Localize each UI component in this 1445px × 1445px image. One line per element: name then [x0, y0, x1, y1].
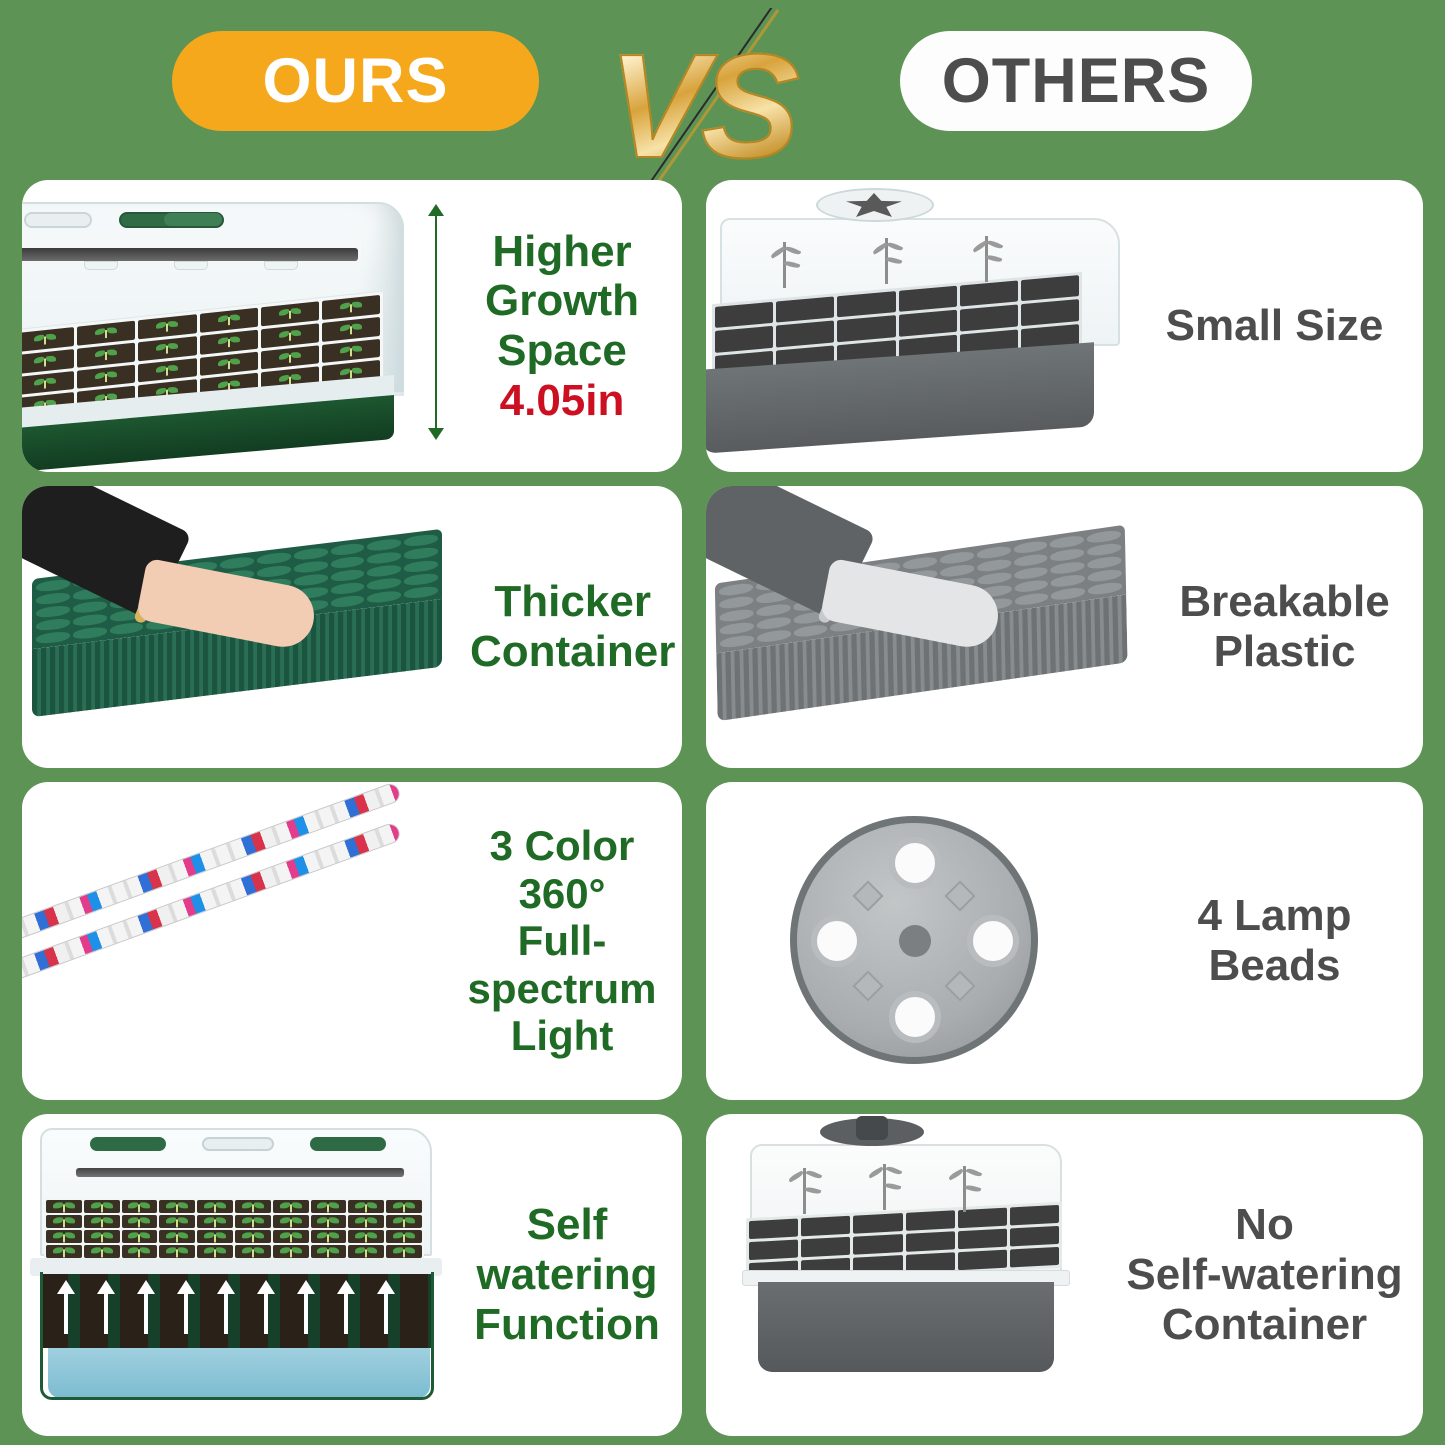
caption-line-3: Container — [1114, 1300, 1415, 1350]
others-durability-image — [706, 486, 1146, 768]
ours-watering-image — [22, 1114, 452, 1436]
card-ours-durability: Thicker Container — [22, 486, 682, 768]
caption-line-3: Space 4.05in — [450, 326, 674, 425]
led-light-bar — [22, 782, 402, 947]
white-cell-tray — [44, 1198, 424, 1260]
ours-watering-caption: Self watering Function — [452, 1200, 682, 1349]
caption-line-1: Thicker — [470, 577, 675, 627]
others-watering-image — [706, 1114, 1106, 1436]
caption-line-1: Higher — [450, 227, 674, 277]
ours-size-caption: Higher Growth Space 4.05in — [422, 227, 682, 426]
gray-sprout — [772, 242, 798, 288]
caption-line-1: Self — [460, 1200, 674, 1250]
others-watering-caption: No Self-watering Container — [1106, 1200, 1423, 1349]
caption-line-2: Beads — [1134, 941, 1415, 991]
height-measure-arrow-icon — [426, 204, 446, 440]
caption-line-1: 4 Lamp — [1134, 891, 1415, 941]
caption-line-2: watering — [460, 1250, 674, 1300]
others-durability-caption: Breakable Plastic — [1146, 577, 1423, 676]
caption-line-1: Small Size — [1134, 301, 1415, 351]
caption-line-2: Full-spectrum — [450, 917, 674, 1012]
comparison-grid: Higher Growth Space 4.05in — [0, 172, 1445, 1445]
gray-sprout — [792, 1168, 818, 1214]
card-ours-watering: Self watering Function — [22, 1114, 682, 1436]
diamond-marker-icon — [852, 970, 883, 1001]
caption-line-1: 3 Color 360° — [450, 822, 674, 917]
lamp-bead — [889, 837, 941, 889]
others-lighting-image — [706, 782, 1126, 1100]
gray-base-tray — [758, 1282, 1054, 1372]
caption-line-3-prefix: Space — [497, 326, 627, 375]
others-size-image — [706, 180, 1126, 472]
center-hub — [899, 925, 931, 957]
diamond-marker-icon — [852, 880, 883, 911]
others-size-caption: Small Size — [1126, 301, 1423, 351]
caption-line-2: Self-watering — [1114, 1250, 1415, 1300]
ours-durability-caption: Thicker Container — [462, 577, 682, 676]
others-lighting-caption: 4 Lamp Beads — [1126, 891, 1423, 990]
lamp-bead — [811, 915, 863, 967]
comparison-infographic: OURS VS OTHERS — [0, 0, 1445, 1445]
card-others-watering: No Self-watering Container — [706, 1114, 1423, 1436]
others-badge: OTHERS — [900, 31, 1252, 131]
outer-tray-outline — [40, 1272, 434, 1400]
vent-knob — [856, 1116, 888, 1140]
header-banner: OURS VS OTHERS — [0, 0, 1445, 172]
ours-badge: OURS — [172, 31, 539, 131]
ours-durability-image — [22, 486, 462, 768]
caption-line-1: No — [1114, 1200, 1415, 1250]
diamond-marker-icon — [944, 880, 975, 911]
card-others-lighting: 4 Lamp Beads — [706, 782, 1423, 1100]
lamp-disc — [790, 816, 1038, 1064]
caption-line-3: Light — [450, 1012, 674, 1059]
vs-label: VS — [592, 22, 810, 192]
diamond-marker-icon — [944, 970, 975, 1001]
gray-sprout — [974, 236, 1000, 282]
ours-lighting-caption: 3 Color 360° Full-spectrum Light — [442, 822, 682, 1059]
gray-sprout — [872, 1164, 898, 1210]
gray-sprout — [952, 1166, 978, 1212]
gray-sprout — [874, 238, 900, 284]
card-ours-size: Higher Growth Space 4.05in — [22, 180, 682, 472]
lamp-bead — [967, 915, 1019, 967]
card-ours-lighting: 3 Color 360° Full-spectrum Light — [22, 782, 682, 1100]
lamp-bead — [889, 991, 941, 1043]
ours-size-image — [22, 180, 422, 472]
caption-line-1: Breakable — [1154, 577, 1415, 627]
ours-lighting-image — [22, 782, 442, 1100]
caption-line-2: Plastic — [1154, 627, 1415, 677]
caption-line-2: Growth — [450, 276, 674, 326]
caption-line-2: Container — [470, 627, 675, 677]
card-others-durability: Breakable Plastic — [706, 486, 1423, 768]
caption-line-3: Function — [460, 1300, 674, 1350]
card-others-size: Small Size — [706, 180, 1423, 472]
height-value: 4.05in — [500, 376, 625, 425]
